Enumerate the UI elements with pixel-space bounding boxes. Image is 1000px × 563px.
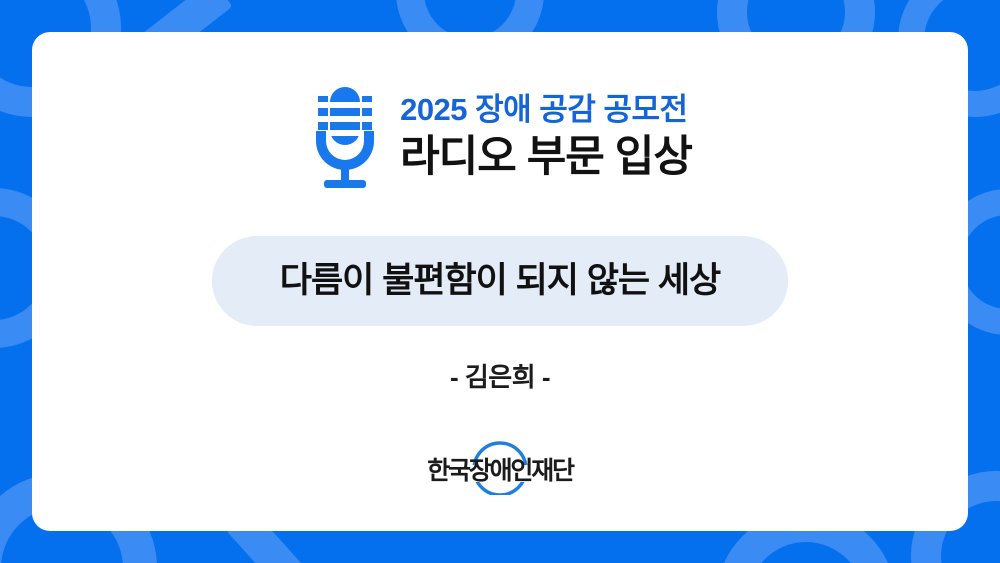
entry-title: 다름이 불편함이 되지 않는 세상: [266, 260, 734, 302]
foundation-logo: 한국장애인재단: [405, 437, 595, 495]
entry-title-pill: 다름이 불편함이 되지 않는 세상: [212, 236, 788, 326]
award-headline: 라디오 부문 입상: [400, 132, 692, 184]
content-card: 2025 장애 공감 공모전 라디오 부문 입상 다름이 불편함이 되지 않는 …: [32, 32, 968, 531]
contest-eyebrow: 2025 장애 공감 공모전: [400, 91, 687, 130]
microphone-icon: [308, 85, 382, 189]
foundation-name: 한국장애인재단: [427, 457, 575, 485]
entry-author: - 김은희 -: [32, 357, 968, 394]
header-row: 2025 장애 공감 공모전 라디오 부문 입상: [32, 85, 968, 189]
header-text: 2025 장애 공감 공모전 라디오 부문 입상: [400, 91, 692, 183]
poster-stage: 2025 장애 공감 공모전 라디오 부문 입상 다름이 불편함이 되지 않는 …: [0, 0, 1000, 563]
decor-ring-bottom-center: [732, 526, 880, 563]
